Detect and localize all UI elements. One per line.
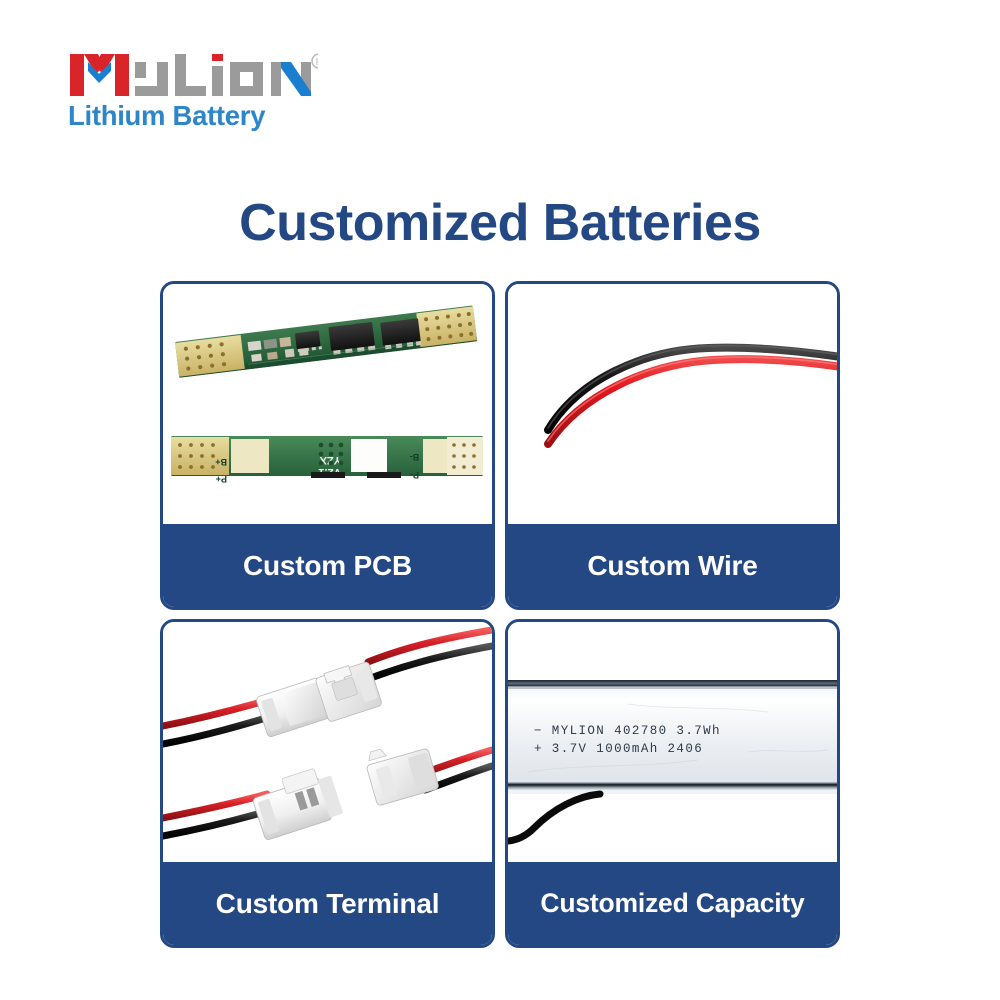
terminal-illustration [163,622,492,868]
feature-card-custom-terminal[interactable]: Custom Terminal [160,619,495,948]
brand-logo: R Lithium Battery [68,52,388,131]
card-label-customized-capacity: Customized Capacity [508,862,837,945]
card-label-custom-wire: Custom Wire [508,524,837,607]
logo-wordmark-svg: R [68,52,318,98]
battery-label-line1: − MYLION 402780 3.7Wh [534,724,721,738]
svg-text:B+: B+ [215,457,227,467]
battery-label-line2: + 3.7V 1000mAh 2406 [534,742,703,756]
pcb-illustration: B+ P+ V2.1 YZX [163,284,492,530]
logo-tagline: Lithium Battery [68,102,388,131]
page-title: Customized Batteries [0,193,1000,253]
feature-card-grid: B+ P+ V2.1 YZX [160,281,840,948]
feature-card-custom-wire[interactable]: Custom Wire [505,281,840,610]
feature-card-customized-capacity[interactable]: − MYLION 402780 3.7Wh + 3.7V 1000mAh 240… [505,619,840,948]
wire-photo [508,284,837,530]
feature-card-custom-pcb[interactable]: B+ P+ V2.1 YZX [160,281,495,610]
svg-text:R: R [316,57,318,67]
battery-photo: − MYLION 402780 3.7Wh + 3.7V 1000mAh 240… [508,622,837,868]
terminal-photo [163,622,492,868]
wire-illustration [508,284,837,530]
card-label-custom-pcb: Custom PCB [163,524,492,607]
svg-text:P+: P+ [216,474,227,484]
svg-text:P-: P- [410,470,419,480]
logo-wordmark: R [68,52,318,98]
battery-illustration: − MYLION 402780 3.7Wh + 3.7V 1000mAh 240… [508,622,837,868]
pcb-photo: B+ P+ V2.1 YZX [163,284,492,530]
svg-text:B-: B- [410,452,420,462]
card-label-custom-terminal: Custom Terminal [163,862,492,945]
